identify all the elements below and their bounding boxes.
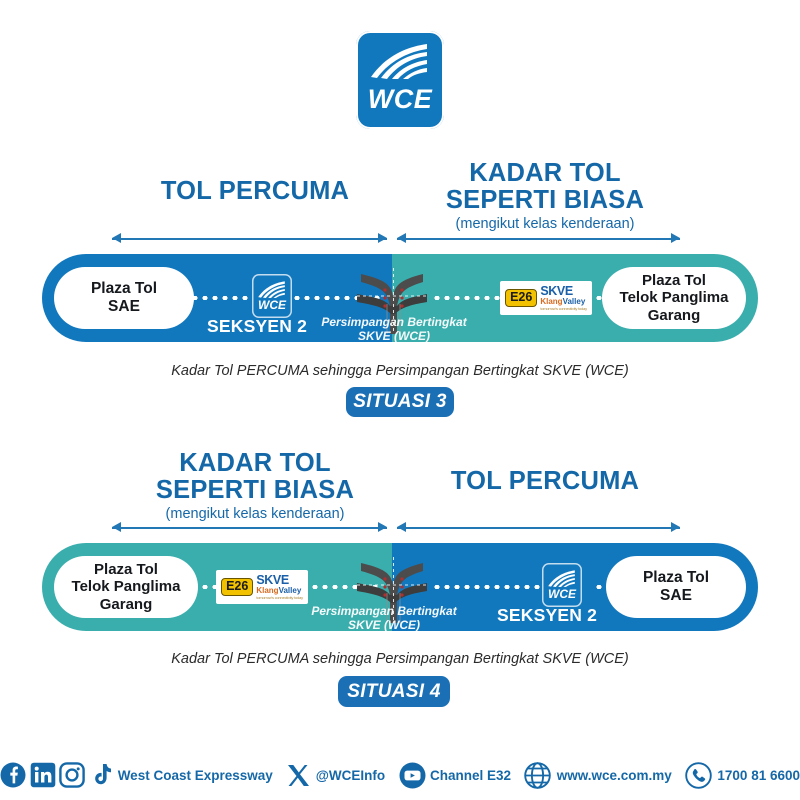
footer-bar: West Coast Expressway @WCEInfo Channel E… bbox=[0, 752, 800, 798]
s4-left-heading: KADAR TOL SEPERTI BIASA (mengikut kelas … bbox=[110, 450, 400, 522]
infographic-canvas: WCE TOL PERCUMA KADAR TOL SEPERTI BIASA … bbox=[0, 0, 800, 800]
s3-caption: Kadar Tol PERCUMA sehingga Persimpangan … bbox=[0, 363, 800, 379]
s3-section-label: SEKSYEN 2 bbox=[207, 316, 307, 337]
s4-wce-logo-icon: WCE bbox=[542, 563, 582, 607]
x-twitter-link[interactable] bbox=[286, 763, 311, 788]
s4-plaza-sae: Plaza Tol SAE bbox=[606, 556, 746, 618]
twitter-handle-label: @WCEInfo bbox=[316, 768, 385, 783]
s3-junction-label: Persimpangan Bertingkat SKVE (WCE) bbox=[310, 316, 478, 342]
s3-route-tagline: KlangValley bbox=[540, 298, 585, 306]
s3-dots-a bbox=[190, 296, 252, 300]
s3-left-arrow bbox=[112, 232, 387, 246]
linkedin-link[interactable] bbox=[30, 762, 56, 788]
s4-plaza-tpg: Plaza Tol Telok Panglima Garang bbox=[54, 556, 198, 618]
s3-skve-logo-icon: E26 SKVE KlangValley tomorrow's connecti… bbox=[500, 281, 592, 315]
instagram-link[interactable] bbox=[59, 762, 85, 788]
instagram-icon bbox=[59, 762, 85, 788]
phone-icon bbox=[685, 762, 712, 789]
website-link[interactable] bbox=[524, 762, 551, 789]
s4-right-heading: TOL PERCUMA bbox=[400, 468, 690, 495]
facebook-icon bbox=[0, 762, 26, 788]
s3-left-heading: TOL PERCUMA bbox=[110, 178, 400, 205]
linkedin-icon bbox=[30, 762, 56, 788]
s3-plaza-tpg: Plaza Tol Telok Panglima Garang bbox=[602, 267, 746, 329]
s3-right-heading: KADAR TOL SEPERTI BIASA (mengikut kelas … bbox=[400, 160, 690, 232]
s4-route-badge: E26 bbox=[221, 578, 253, 596]
facebook-link[interactable] bbox=[0, 762, 26, 788]
s4-route-tagline: KlangValley bbox=[256, 587, 301, 595]
s3-wce-logo-icon: WCE bbox=[252, 274, 292, 318]
s4-section-label: SEKSYEN 2 bbox=[497, 605, 597, 626]
tiktok-link[interactable] bbox=[89, 762, 113, 788]
s3-dots-c bbox=[432, 296, 502, 300]
s4-left-arrow bbox=[112, 521, 387, 535]
s3-plaza-sae: Plaza Tol SAE bbox=[54, 267, 194, 329]
globe-icon bbox=[524, 762, 551, 789]
wce-logo: WCE bbox=[356, 31, 444, 129]
phone-link[interactable] bbox=[685, 762, 712, 789]
s4-badge: SITUASI 4 bbox=[338, 676, 450, 707]
wce-swoosh-icon bbox=[369, 41, 431, 86]
youtube-link[interactable] bbox=[399, 762, 426, 789]
youtube-icon bbox=[399, 762, 426, 789]
s4-road-bar: Plaza Tol Telok Panglima Garang E26 SKVE… bbox=[42, 543, 758, 631]
s4-junction-label: Persimpangan Bertingkat SKVE (WCE) bbox=[300, 605, 468, 631]
s3-road-bar: Plaza Tol SAE WCE SEKSYEN 2 bbox=[42, 254, 758, 342]
tiktok-icon bbox=[89, 762, 113, 788]
s4-skve-logo-icon: E26 SKVE KlangValley tomorrow's connecti… bbox=[216, 570, 308, 604]
phone-label: 1700 81 6600 bbox=[717, 768, 800, 783]
x-twitter-icon bbox=[286, 763, 311, 788]
s4-caption: Kadar Tol PERCUMA sehingga Persimpangan … bbox=[0, 651, 800, 667]
s3-route-badge: E26 bbox=[505, 289, 537, 307]
s3-badge: SITUASI 3 bbox=[346, 387, 454, 417]
wce-logo-text: WCE bbox=[368, 84, 433, 115]
website-label: www.wce.com.my bbox=[557, 768, 672, 783]
s3-right-arrow bbox=[397, 232, 680, 246]
youtube-label: Channel E32 bbox=[430, 768, 511, 783]
s4-right-arrow bbox=[397, 521, 680, 535]
s4-dots-c bbox=[432, 585, 542, 589]
social-handle-label: West Coast Expressway bbox=[118, 768, 273, 783]
